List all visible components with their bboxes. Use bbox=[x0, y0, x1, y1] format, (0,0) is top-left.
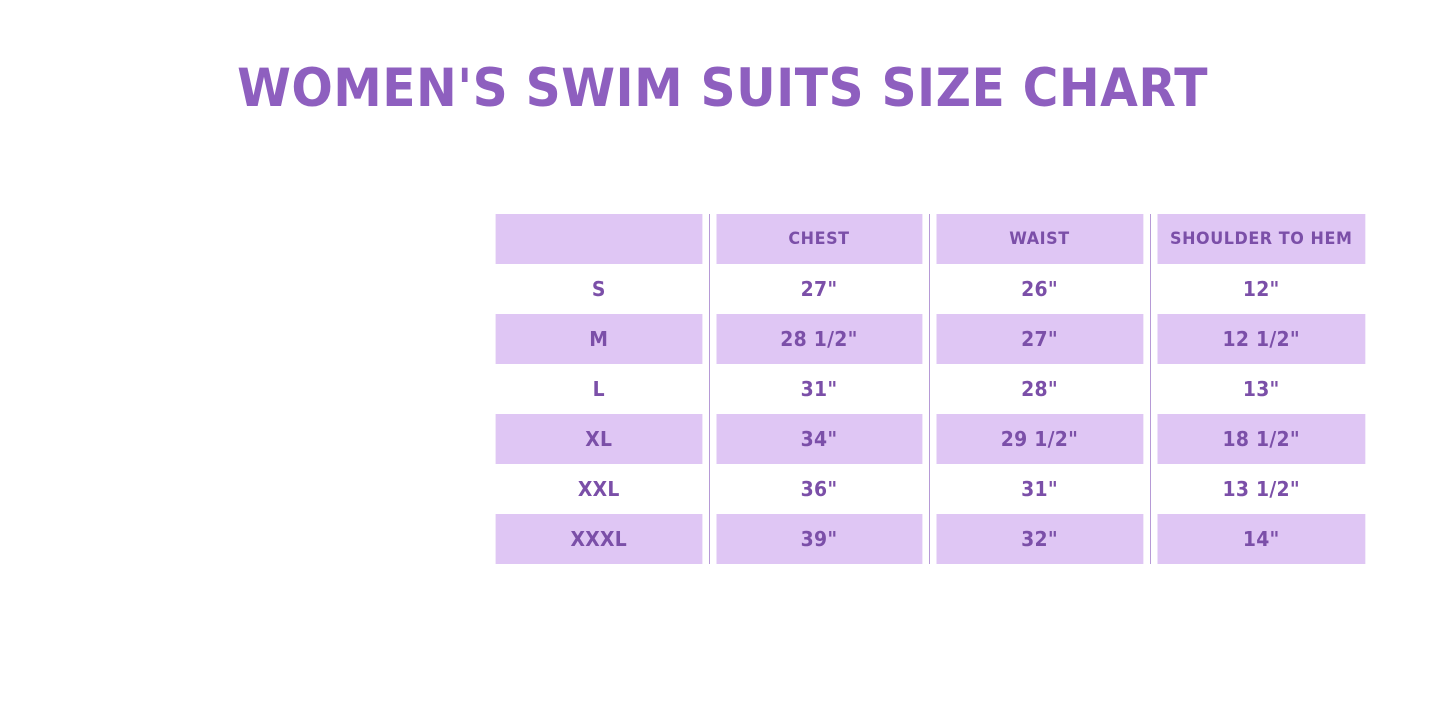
cell-waist: 28" bbox=[936, 364, 1144, 414]
cell-waist: 27" bbox=[936, 314, 1144, 364]
cell-chest: 36" bbox=[716, 464, 923, 514]
cell-chest: 27" bbox=[716, 264, 923, 314]
cell-size: XXL bbox=[496, 464, 703, 514]
cell-size: XXXL bbox=[496, 514, 703, 564]
column-header-size bbox=[496, 214, 703, 264]
table-row: XL 34" 29 1/2" 18 1/2" bbox=[489, 414, 1372, 464]
cell-chest: 34" bbox=[716, 414, 923, 464]
table-row: XXL 36" 31" 13 1/2" bbox=[489, 464, 1372, 514]
table-row: S 27" 26" 12" bbox=[489, 264, 1372, 314]
cell-chest: 31" bbox=[716, 364, 923, 414]
table-body: S 27" 26" 12" M 28 1/2" 27" 12 1/2" L 31… bbox=[489, 264, 1372, 564]
cell-chest: 28 1/2" bbox=[716, 314, 923, 364]
column-header-chest: CHEST bbox=[716, 214, 923, 264]
table-row: XXXL 39" 32" 14" bbox=[489, 514, 1372, 564]
size-chart-page: WOMEN'S SWIM SUITS SIZE CHART CHEST WAIS… bbox=[0, 0, 1445, 723]
cell-shoulder-to-hem: 13 1/2" bbox=[1157, 464, 1366, 514]
cell-shoulder-to-hem: 13" bbox=[1157, 364, 1366, 414]
cell-size: M bbox=[496, 314, 703, 364]
cell-size: S bbox=[496, 264, 703, 314]
table-header: CHEST WAIST SHOULDER TO HEM bbox=[489, 214, 1372, 264]
column-header-waist: WAIST bbox=[936, 214, 1144, 264]
cell-size: L bbox=[496, 364, 703, 414]
cell-waist: 26" bbox=[936, 264, 1144, 314]
table-header-row: CHEST WAIST SHOULDER TO HEM bbox=[489, 214, 1372, 264]
table-row: L 31" 28" 13" bbox=[489, 364, 1372, 414]
page-title: WOMEN'S SWIM SUITS SIZE CHART bbox=[58, 58, 1387, 120]
cell-waist: 31" bbox=[936, 464, 1144, 514]
cell-size: XL bbox=[496, 414, 703, 464]
cell-waist: 29 1/2" bbox=[936, 414, 1144, 464]
cell-shoulder-to-hem: 14" bbox=[1157, 514, 1366, 564]
table-row: M 28 1/2" 27" 12 1/2" bbox=[489, 314, 1372, 364]
size-chart-table-container: CHEST WAIST SHOULDER TO HEM S 27" 26" 12… bbox=[489, 214, 1372, 564]
cell-shoulder-to-hem: 12" bbox=[1157, 264, 1366, 314]
cell-shoulder-to-hem: 12 1/2" bbox=[1157, 314, 1366, 364]
cell-chest: 39" bbox=[716, 514, 923, 564]
cell-shoulder-to-hem: 18 1/2" bbox=[1157, 414, 1366, 464]
cell-waist: 32" bbox=[936, 514, 1144, 564]
size-chart-table: CHEST WAIST SHOULDER TO HEM S 27" 26" 12… bbox=[489, 214, 1372, 564]
column-header-shoulder-to-hem: SHOULDER TO HEM bbox=[1157, 214, 1366, 264]
